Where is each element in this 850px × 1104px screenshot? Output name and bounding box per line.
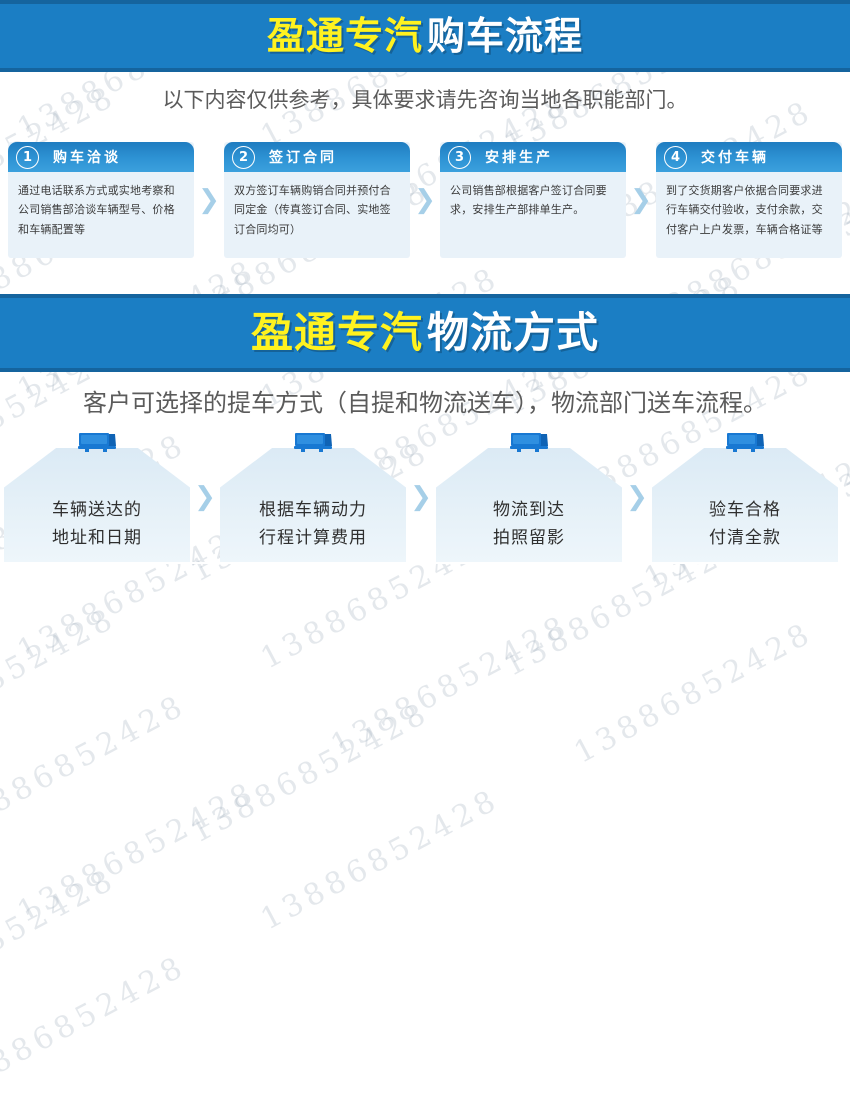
step-header: 4交付车辆 — [656, 142, 842, 172]
logistics-label-line1: 物流到达 — [493, 496, 565, 524]
chevron-right-icon: ❯ — [410, 484, 432, 510]
logistics-label-line2: 付清全款 — [709, 524, 781, 552]
truck-icon — [291, 430, 335, 456]
step-title: 购车洽谈 — [53, 147, 121, 167]
truck-icon — [507, 430, 551, 456]
step-card: 2签订合同双方签订车辆购销合同并预付合同定金（传真签订合同、实地签订合同均可） — [224, 142, 410, 258]
step-header: 1购车洽谈 — [8, 142, 194, 172]
subtitle-logistics-note: 客户可选择的提车方式（自提和物流送车），物流部门送车流程。 — [0, 383, 850, 418]
logistics-steps-row: 车辆送达的地址和日期❯根据车辆动力行程计算费用❯物流到达拍照留影❯验车合格付清全… — [4, 430, 846, 564]
logistics-label-line2: 拍照留影 — [493, 524, 565, 552]
banner-1-title: 盈通专汽购车流程 — [267, 17, 583, 55]
purchase-steps-row: 1购车洽谈通过电话联系方式或实地考察和公司销售部洽谈车辆型号、价格和车辆配置等❯… — [8, 142, 842, 258]
step-number-badge: 1 — [16, 146, 39, 169]
banner-2-suffix: 物流方式 — [427, 308, 599, 357]
banner-1-brand: 盈通专汽 — [267, 14, 423, 58]
banner-2-title: 盈通专汽物流方式 — [251, 312, 599, 354]
chevron-right-icon: ❯ — [198, 187, 220, 213]
banner-1-suffix: 购车流程 — [427, 14, 583, 58]
logistics-arrow: ❯ — [190, 430, 220, 564]
step-title: 安排生产 — [485, 147, 553, 167]
step-number-badge: 3 — [448, 146, 471, 169]
chevron-right-icon: ❯ — [194, 484, 216, 510]
step-body-text: 双方签订车辆购销合同并预付合同定金（传真签订合同、实地签订合同均可） — [224, 172, 410, 239]
truck-icon — [723, 430, 767, 456]
truck-icon — [75, 430, 119, 456]
banner-2-brand: 盈通专汽 — [251, 308, 423, 357]
subtitle-purchase-note: 以下内容仅供参考，具体要求请先咨询当地各职能部门。 — [0, 84, 850, 114]
step-number-badge: 4 — [664, 146, 687, 169]
logistics-card-body: 根据车辆动力行程计算费用 — [220, 448, 406, 564]
step-title: 签订合同 — [269, 147, 337, 167]
logistics-label-line1: 验车合格 — [709, 496, 781, 524]
step-arrow: ❯ — [626, 142, 656, 258]
step-card: 3安排生产公司销售部根据客户签订合同要求，安排生产部排单生产。 — [440, 142, 626, 258]
chevron-right-icon: ❯ — [626, 484, 648, 510]
logistics-label-line1: 根据车辆动力 — [259, 496, 367, 524]
step-number-badge: 2 — [232, 146, 255, 169]
logistics-card: 验车合格付清全款 — [652, 430, 838, 564]
step-title: 交付车辆 — [701, 147, 769, 167]
logistics-arrow: ❯ — [406, 430, 436, 564]
logistics-label-line2: 行程计算费用 — [259, 524, 367, 552]
watermark-row: 1388685242813886852428138868524281388685… — [0, 580, 850, 1104]
step-arrow: ❯ — [410, 142, 440, 258]
banner-logistics-method: 盈通专汽物流方式 — [0, 294, 850, 372]
step-header: 2签订合同 — [224, 142, 410, 172]
step-arrow: ❯ — [194, 142, 224, 258]
logistics-card: 根据车辆动力行程计算费用 — [220, 430, 406, 564]
step-card: 4交付车辆到了交货期客户依据合同要求进行车辆交付验收，支付余款，交付客户上户发票… — [656, 142, 842, 258]
step-card: 1购车洽谈通过电话联系方式或实地考察和公司销售部洽谈车辆型号、价格和车辆配置等 — [8, 142, 194, 258]
logistics-card: 物流到达拍照留影 — [436, 430, 622, 564]
step-body-text: 通过电话联系方式或实地考察和公司销售部洽谈车辆型号、价格和车辆配置等 — [8, 172, 194, 239]
logistics-arrow: ❯ — [622, 430, 652, 564]
banner-purchase-process: 盈通专汽购车流程 — [0, 0, 850, 72]
step-body-text: 公司销售部根据客户签订合同要求，安排生产部排单生产。 — [440, 172, 626, 220]
step-header: 3安排生产 — [440, 142, 626, 172]
logistics-card-body: 验车合格付清全款 — [652, 448, 838, 564]
logistics-card: 车辆送达的地址和日期 — [4, 430, 190, 564]
chevron-right-icon: ❯ — [630, 187, 652, 213]
logistics-card-body: 车辆送达的地址和日期 — [4, 448, 190, 564]
logistics-card-body: 物流到达拍照留影 — [436, 448, 622, 564]
logistics-label-line2: 地址和日期 — [52, 524, 142, 552]
step-body-text: 到了交货期客户依据合同要求进行车辆交付验收，支付余款，交付客户上户发票，车辆合格… — [656, 172, 842, 239]
chevron-right-icon: ❯ — [414, 187, 436, 213]
logistics-label-line1: 车辆送达的 — [52, 496, 142, 524]
